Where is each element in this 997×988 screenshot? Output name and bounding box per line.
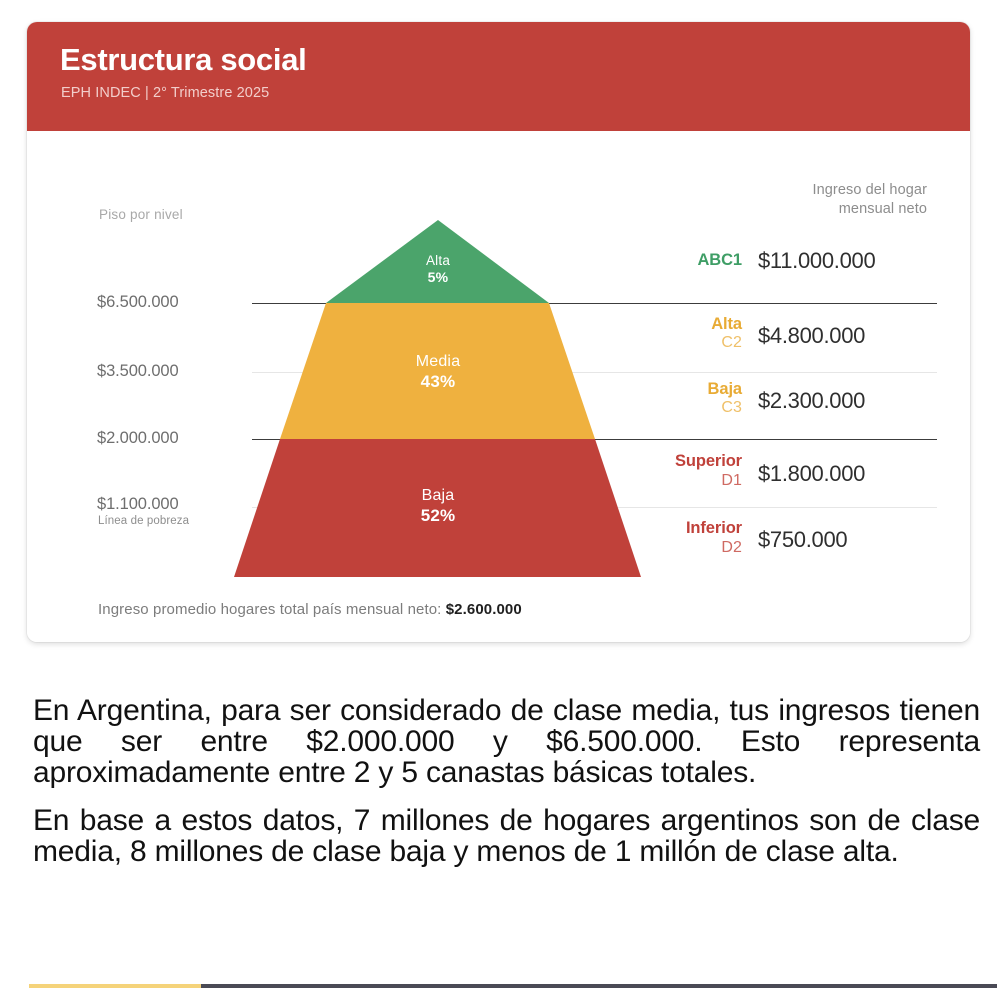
pyramid-label-baja-name: Baja <box>421 487 456 505</box>
article-body: En Argentina, para ser considerado de cl… <box>33 695 980 867</box>
pyramid-label-baja-pct: 52% <box>421 506 456 526</box>
pyramid-label-baja: Baja 52% <box>421 487 456 526</box>
pyramid-label-alta-name: Alta <box>426 253 450 268</box>
income-row-c3-name: Baja <box>605 380 742 399</box>
income-row-c2-name: Alta <box>605 315 742 334</box>
income-row-c3-code: C3 <box>605 399 742 417</box>
reading-progress-fill <box>29 984 201 988</box>
pyramid-label-alta: Alta 5% <box>426 253 450 285</box>
paragraph-1: En Argentina, para ser considerado de cl… <box>33 695 980 788</box>
average-income-label: Ingreso promedio hogares total país mens… <box>98 601 441 618</box>
left-axis-caption: Piso por nivel <box>99 207 183 222</box>
income-row-d1-value: $1.800.000 <box>758 461 865 487</box>
pyramid-label-media-pct: 43% <box>416 372 461 392</box>
paragraph-2: En base a estos datos, 7 millones de hog… <box>33 805 980 867</box>
axis-label-3500000: $3.500.000 <box>97 362 970 381</box>
income-row-d2-code: D2 <box>605 539 742 557</box>
pyramid-label-media: Media 43% <box>416 353 461 392</box>
average-income-footnote: Ingreso promedio hogares total país mens… <box>98 601 522 618</box>
income-row-d1-code: D1 <box>605 472 742 490</box>
reading-progress-track[interactable] <box>29 984 997 988</box>
pyramid-label-media-name: Media <box>416 353 461 371</box>
axis-label-1100000: $1.100.000 <box>97 495 970 514</box>
income-column-header: Ingreso del hogar mensual neto <box>697 181 927 219</box>
income-row-c3-value: $2.300.000 <box>758 388 865 414</box>
income-row-abc1-name: ABC1 <box>605 251 742 270</box>
page-title: Estructura social <box>60 42 306 78</box>
average-income-value: $2.600.000 <box>446 601 522 618</box>
page-subtitle: EPH INDEC | 2° Trimestre 2025 <box>61 85 269 101</box>
income-column-header-line1: Ingreso del hogar <box>697 181 927 200</box>
income-row-d2-name: Inferior <box>605 519 742 538</box>
axis-label-2000000: $2.000.000 <box>97 429 970 448</box>
card-header: Estructura social EPH INDEC | 2° Trimest… <box>27 22 970 131</box>
income-row-d2-value: $750.000 <box>758 527 847 553</box>
infographic-card: Estructura social EPH INDEC | 2° Trimest… <box>27 22 970 642</box>
income-column-header-line2: mensual neto <box>697 200 927 219</box>
income-row-d1-name: Superior <box>605 452 742 471</box>
income-row-c2-code: C2 <box>605 334 742 352</box>
chart-area: Piso por nivel $6.500.000 $3.500.000 $2.… <box>27 131 970 642</box>
income-row-c2-value: $4.800.000 <box>758 323 865 349</box>
axis-sublabel-poverty-line: Línea de pobreza <box>98 515 189 527</box>
axis-label-6500000: $6.500.000 <box>97 293 970 312</box>
pyramid-label-alta-pct: 5% <box>426 269 450 285</box>
income-row-abc1-value: $11.000.000 <box>758 248 875 274</box>
